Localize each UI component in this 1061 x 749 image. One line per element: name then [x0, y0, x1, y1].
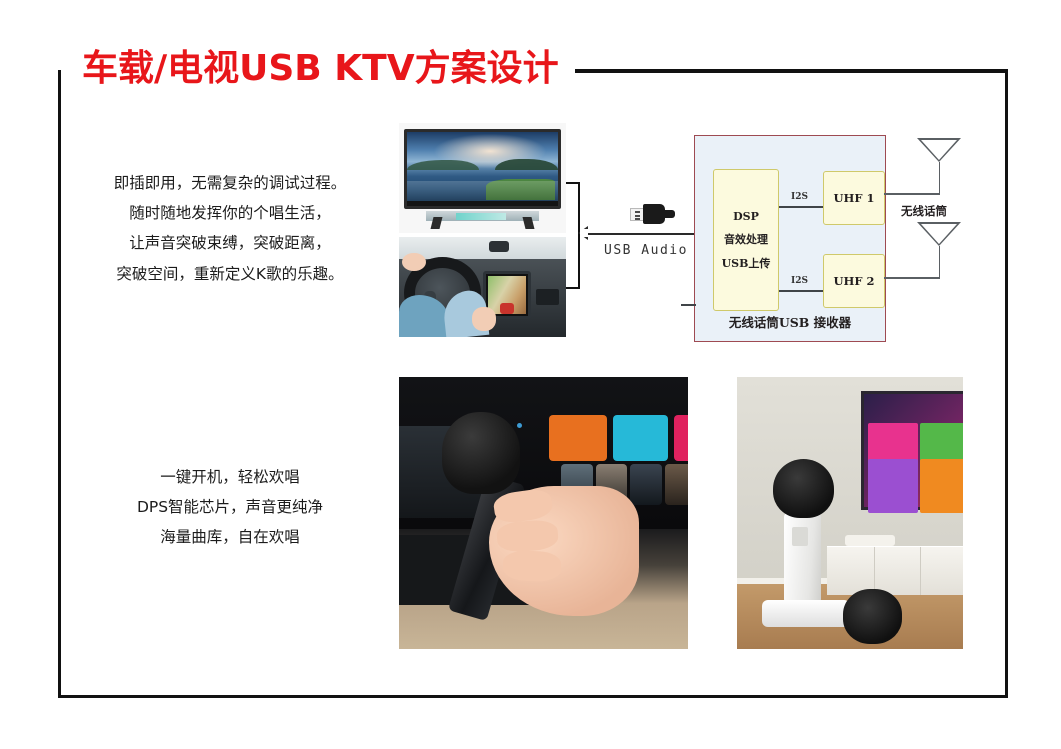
usb-audio-arrowhead: [578, 226, 588, 240]
car-hand-on-wheel: [402, 253, 425, 271]
wire-dsp-to-uhf2: [779, 290, 823, 292]
cabinet-seam-1: [874, 547, 875, 595]
bracket-bottom-arm: [566, 287, 580, 289]
usb-audio-label: USB Audio: [604, 243, 688, 258]
car-air-vent: [536, 289, 559, 305]
uhf1-block: UHF 1: [823, 171, 885, 225]
page-title: 车载/电视USB KTV方案设计: [82, 39, 559, 91]
screen-tile-pink: [674, 415, 688, 461]
receiver-input-wire: [681, 304, 696, 306]
screen-thumb-4: [665, 464, 688, 505]
frame-border-right: [1005, 70, 1008, 698]
screen-tile-orange: [549, 415, 607, 461]
intro-copy-line-1: 即插即用，无需复杂的调试过程。: [72, 168, 388, 198]
tv-tile-orange: [920, 459, 963, 513]
microphone-2-foam-head: [843, 589, 902, 643]
mic-in-car-photo: [399, 377, 688, 649]
soundbar: [845, 535, 895, 546]
receiver-caption: 无线话筒USB 接收器: [695, 312, 885, 331]
usb-plug-housing: [643, 204, 665, 224]
uhf2-label: UHF 2: [833, 274, 874, 288]
i2s-label-2: I2S: [791, 276, 808, 286]
tv-screen-landscape: [407, 132, 558, 206]
tv-bezel-bottom: [407, 201, 558, 206]
features-copy: 一键开机，轻松欢唱 DPS智能芯片，声音更纯净 海量曲库，自在欢唱: [72, 462, 388, 553]
tv-bezel: [404, 129, 561, 209]
i2s-label-1: I2S: [791, 192, 808, 202]
dsp-block: DSP 音效处理 USB上传: [713, 169, 779, 311]
screen-tile-cyan: [613, 415, 668, 461]
tv-hill-left: [407, 160, 479, 170]
tv-photo: [399, 123, 566, 233]
uhf1-label: UHF 1: [833, 191, 874, 205]
tv-stand-accent: [456, 213, 506, 220]
usb-plug-cable: [664, 210, 675, 218]
microphone-2-handle: [762, 600, 850, 627]
microphone-1-buttons: [792, 527, 808, 546]
dsp-label-3: USB上传: [722, 252, 771, 275]
usb-plug-contacts: [630, 208, 644, 221]
features-copy-line-3: 海量曲库，自在欢唱: [72, 522, 388, 552]
intro-copy-line-2: 随时随地发挥你的个唱生活，: [72, 198, 388, 228]
tv-tile-purple: [868, 459, 918, 513]
slide-canvas: 车载/电视USB KTV方案设计 即插即用，无需复杂的调试过程。 随时随地发挥你…: [0, 0, 1061, 749]
frame-border-top: [575, 69, 1008, 73]
microphone-1-foam-head: [773, 459, 834, 519]
wire-uhf1-to-antenna: [884, 193, 940, 195]
wire-dsp-to-uhf1: [779, 206, 823, 208]
wireless-mic-label: 无线话筒: [901, 203, 947, 219]
antenna-stem-2: [939, 246, 941, 278]
finger-3: [503, 550, 562, 582]
car-interior-photo: [399, 237, 566, 337]
antenna-icon-1: [917, 138, 961, 162]
tv-leg-left: [431, 217, 443, 229]
frame-border-left: [58, 70, 61, 698]
cabinet-seam-2: [920, 547, 921, 595]
dsp-label-1: DSP: [733, 205, 759, 228]
antenna-stem-1: [939, 162, 941, 194]
usb-plug-icon: [630, 203, 676, 225]
intro-copy: 即插即用，无需复杂的调试过程。 随时随地发挥你的个唱生活， 让声音突破束缚，突破…: [72, 168, 388, 289]
microphone-foam-head: [442, 412, 520, 494]
usb-receiver-container: DSP 音效处理 USB上传 UHF 1 UHF 2 I2S I2S 无线话筒U…: [694, 135, 886, 342]
intro-copy-line-3: 让声音突破束缚，突破距离，: [72, 228, 388, 258]
wire-uhf2-to-antenna: [884, 277, 940, 279]
car-rearview-mirror: [489, 241, 509, 252]
frame-border-bottom: [58, 695, 1008, 698]
tv-hill-right: [495, 159, 558, 171]
features-copy-line-1: 一键开机，轻松欢唱: [72, 462, 388, 492]
mics-living-room-photo: [737, 377, 963, 649]
car-screen-red-tile: [500, 303, 514, 314]
intro-copy-line-4: 突破空间，重新定义K歌的乐趣。: [72, 259, 388, 289]
usb-audio-line: [584, 233, 694, 235]
features-copy-line-2: DPS智能芯片，声音更纯净: [72, 492, 388, 522]
car-hand-on-screen: [472, 307, 495, 331]
screen-thumb-3: [630, 464, 662, 505]
dsp-label-2: 音效处理: [724, 228, 768, 251]
antenna-icon-2: [917, 222, 961, 246]
uhf2-block: UHF 2: [823, 254, 885, 308]
tv-cabinet: [827, 546, 963, 595]
